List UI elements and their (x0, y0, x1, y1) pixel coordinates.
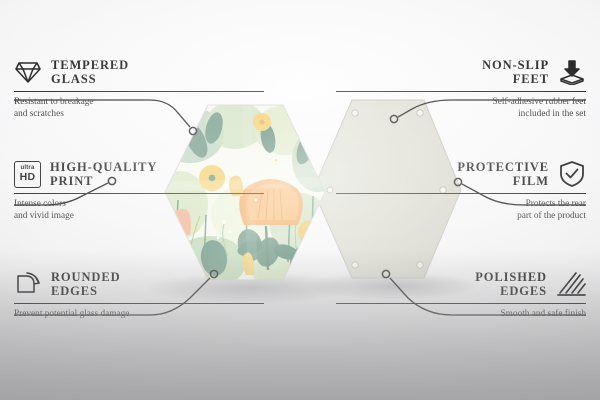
hatch-lines-icon (556, 271, 586, 297)
feature-title-line1: PROTECTIVE (457, 160, 549, 174)
rounded-corner-icon (14, 271, 42, 297)
desc-line2: and vivid image (14, 210, 264, 222)
desc-line1: Resistant to breakage (14, 96, 264, 108)
feature-high-quality-print: ultra HD HIGH-QUALITY PRINT Intense colo… (14, 160, 264, 223)
desc-line2: and scratches (14, 108, 264, 120)
feature-description: Intense colors and vivid image (14, 198, 264, 223)
divider (336, 91, 586, 92)
feature-description: Smooth and safe finish (336, 308, 586, 320)
feature-title-line2: FILM (513, 174, 549, 188)
rubber-foot (417, 262, 423, 268)
divider (14, 91, 264, 92)
feature-rounded-edges: ROUNDED EDGES Prevent potential glass da… (14, 270, 264, 320)
desc-line1: Protects the rear (336, 198, 586, 210)
desc-line1: Prevent potential glass damage (14, 308, 264, 320)
feature-title-line2: FEET (513, 72, 549, 86)
divider (14, 193, 264, 194)
rubber-foot (327, 187, 333, 193)
divider (336, 193, 586, 194)
diamond-icon (14, 59, 42, 85)
feature-title-line1: POLISHED (475, 270, 547, 284)
feature-non-slip-feet: NON-SLIP FEET Self-adhesive rubber feet … (336, 58, 586, 121)
feature-title-line1: TEMPERED (51, 58, 129, 72)
ultra-hd-icon: ultra HD (14, 161, 41, 188)
feature-polished-edges: POLISHED EDGES Smooth and safe finish (336, 270, 586, 320)
feature-title-line2: GLASS (51, 72, 97, 86)
desc-line2: included in the set (336, 108, 586, 120)
desc-line1: Self-adhesive rubber feet (336, 96, 586, 108)
desc-line2: part of the product (336, 210, 586, 222)
feature-title-line1: NON-SLIP (482, 58, 549, 72)
feature-protective-film: PROTECTIVE FILM Protects the rear part o… (336, 160, 586, 223)
feature-title-line2: PRINT (50, 174, 93, 188)
desc-line1: Intense colors (14, 198, 264, 210)
feature-description: Protects the rear part of the product (336, 198, 586, 223)
feature-title-line1: HIGH-QUALITY (50, 160, 157, 174)
feature-title-line1: ROUNDED (51, 270, 121, 284)
press-foot-icon (558, 59, 586, 85)
feature-description: Resistant to breakage and scratches (14, 96, 264, 121)
feature-description: Self-adhesive rubber feet included in th… (336, 96, 586, 121)
divider (336, 303, 586, 304)
ultra-hd-icon-bottom: HD (20, 172, 36, 183)
feature-title-line2: EDGES (500, 284, 547, 298)
rubber-foot (352, 262, 358, 268)
feature-tempered-glass: TEMPERED GLASS Resistant to breakage and… (14, 58, 264, 121)
shield-check-icon (558, 160, 586, 188)
divider (14, 303, 264, 304)
feature-title-line2: EDGES (51, 284, 98, 298)
feature-description: Prevent potential glass damage (14, 308, 264, 320)
desc-line1: Smooth and safe finish (336, 308, 586, 320)
infographic-stage: TEMPERED GLASS Resistant to breakage and… (0, 0, 600, 400)
